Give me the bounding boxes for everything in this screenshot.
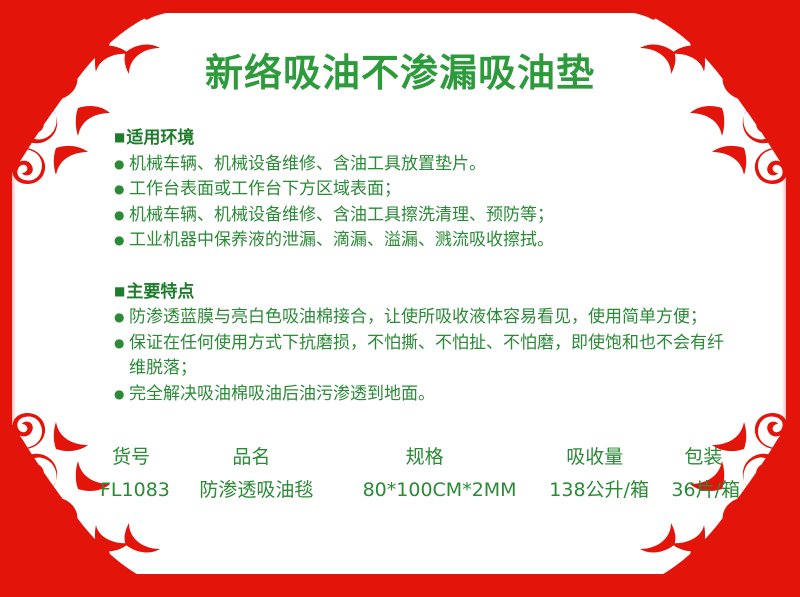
list-applicable-environment: ●机械车辆、机械设备维修、含油工具放置垫片。 ●工作台表面或工作台下方区域表面；…	[114, 152, 734, 254]
list-item: ●工业机器中保养液的泄漏、滴漏、溢漏、溅流吸收擦拭。	[114, 228, 734, 254]
cell-packing: 36片/箱	[671, 477, 740, 510]
column-header-spec: 规格	[363, 444, 550, 477]
round-bullet-icon: ●	[114, 228, 124, 254]
table-row: FL1083 防渗透吸油毯 80*100CM*2MM 138公升/箱 36片/箱	[100, 477, 740, 510]
list-item-label: 防渗透蓝膜与亮白色吸油棉接合，让使所吸收液体容易看见，使用简单方便；	[129, 307, 707, 327]
list-item: ●保证在任何使用方式下抗磨损，不怕撕、不怕扯、不怕磨，即使饱和也不会有纤维脱落；	[114, 331, 734, 382]
list-item: ●防渗透蓝膜与亮白色吸油棉接合，让使所吸收液体容易看见，使用简单方便；	[114, 305, 734, 331]
section-heading-label: 主要特点	[126, 282, 194, 302]
column-header-absorption: 吸收量	[549, 444, 671, 477]
round-bullet-icon: ●	[114, 177, 124, 203]
column-header-packing: 包装	[671, 444, 740, 477]
cell-absorption: 138公升/箱	[549, 477, 671, 510]
list-item-label: 完全解决吸油棉吸油后油污渗透到地面。	[129, 384, 435, 404]
cell-spec: 80*100CM*2MM	[363, 477, 550, 510]
list-main-features: ●防渗透蓝膜与亮白色吸油棉接合，让使所吸收液体容易看见，使用简单方便； ●保证在…	[114, 305, 734, 407]
spec-table: 货号 品名 规格 吸收量 包装 FL1083 防渗透吸油毯 80*100CM*2…	[100, 444, 740, 510]
list-item-label: 工作台表面或工作台下方区域表面；	[129, 179, 401, 199]
list-item: ●机械车辆、机械设备维修、含油工具放置垫片。	[114, 152, 734, 178]
round-bullet-icon: ●	[114, 203, 124, 229]
page-title: 新络吸油不渗漏吸油垫	[0, 53, 800, 95]
list-item-label: 工业机器中保养液的泄漏、滴漏、溢漏、溅流吸收擦拭。	[129, 230, 554, 250]
column-header-item-no: 货号	[100, 444, 199, 477]
round-bullet-icon: ●	[114, 152, 124, 178]
cell-item-no: FL1083	[100, 477, 199, 510]
section-spacer	[114, 254, 734, 279]
square-bullet-icon: ■	[114, 130, 125, 144]
poster-content: 新络吸油不渗漏吸油垫 ■适用环境 ●机械车辆、机械设备维修、含油工具放置垫片。 …	[0, 0, 800, 597]
section-heading-applicable-environment: ■适用环境	[114, 125, 734, 152]
list-item: ●机械车辆、机械设备维修、含油工具擦洗清理、预防等；	[114, 203, 734, 229]
cell-product: 防渗透吸油毯	[199, 477, 362, 510]
feature-body: ■适用环境 ●机械车辆、机械设备维修、含油工具放置垫片。 ●工作台表面或工作台下…	[114, 125, 734, 407]
square-bullet-icon: ■	[114, 284, 125, 298]
poster: 新络吸油不渗漏吸油垫 ■适用环境 ●机械车辆、机械设备维修、含油工具放置垫片。 …	[0, 0, 800, 597]
round-bullet-icon: ●	[114, 331, 124, 357]
section-heading-label: 适用环境	[126, 128, 194, 148]
list-item: ●完全解决吸油棉吸油后油污渗透到地面。	[114, 382, 734, 408]
round-bullet-icon: ●	[114, 382, 124, 408]
list-item: ●工作台表面或工作台下方区域表面；	[114, 177, 734, 203]
round-bullet-icon: ●	[114, 305, 124, 331]
section-heading-main-features: ■主要特点	[114, 279, 734, 306]
list-item-label: 机械车辆、机械设备维修、含油工具擦洗清理、预防等；	[129, 205, 554, 225]
list-item-label: 保证在任何使用方式下抗磨损，不怕撕、不怕扯、不怕磨，即使饱和也不会有纤维脱落；	[129, 333, 724, 379]
table-header-row: 货号 品名 规格 吸收量 包装	[100, 444, 740, 477]
column-header-product: 品名	[199, 444, 362, 477]
list-item-label: 机械车辆、机械设备维修、含油工具放置垫片。	[129, 154, 486, 174]
